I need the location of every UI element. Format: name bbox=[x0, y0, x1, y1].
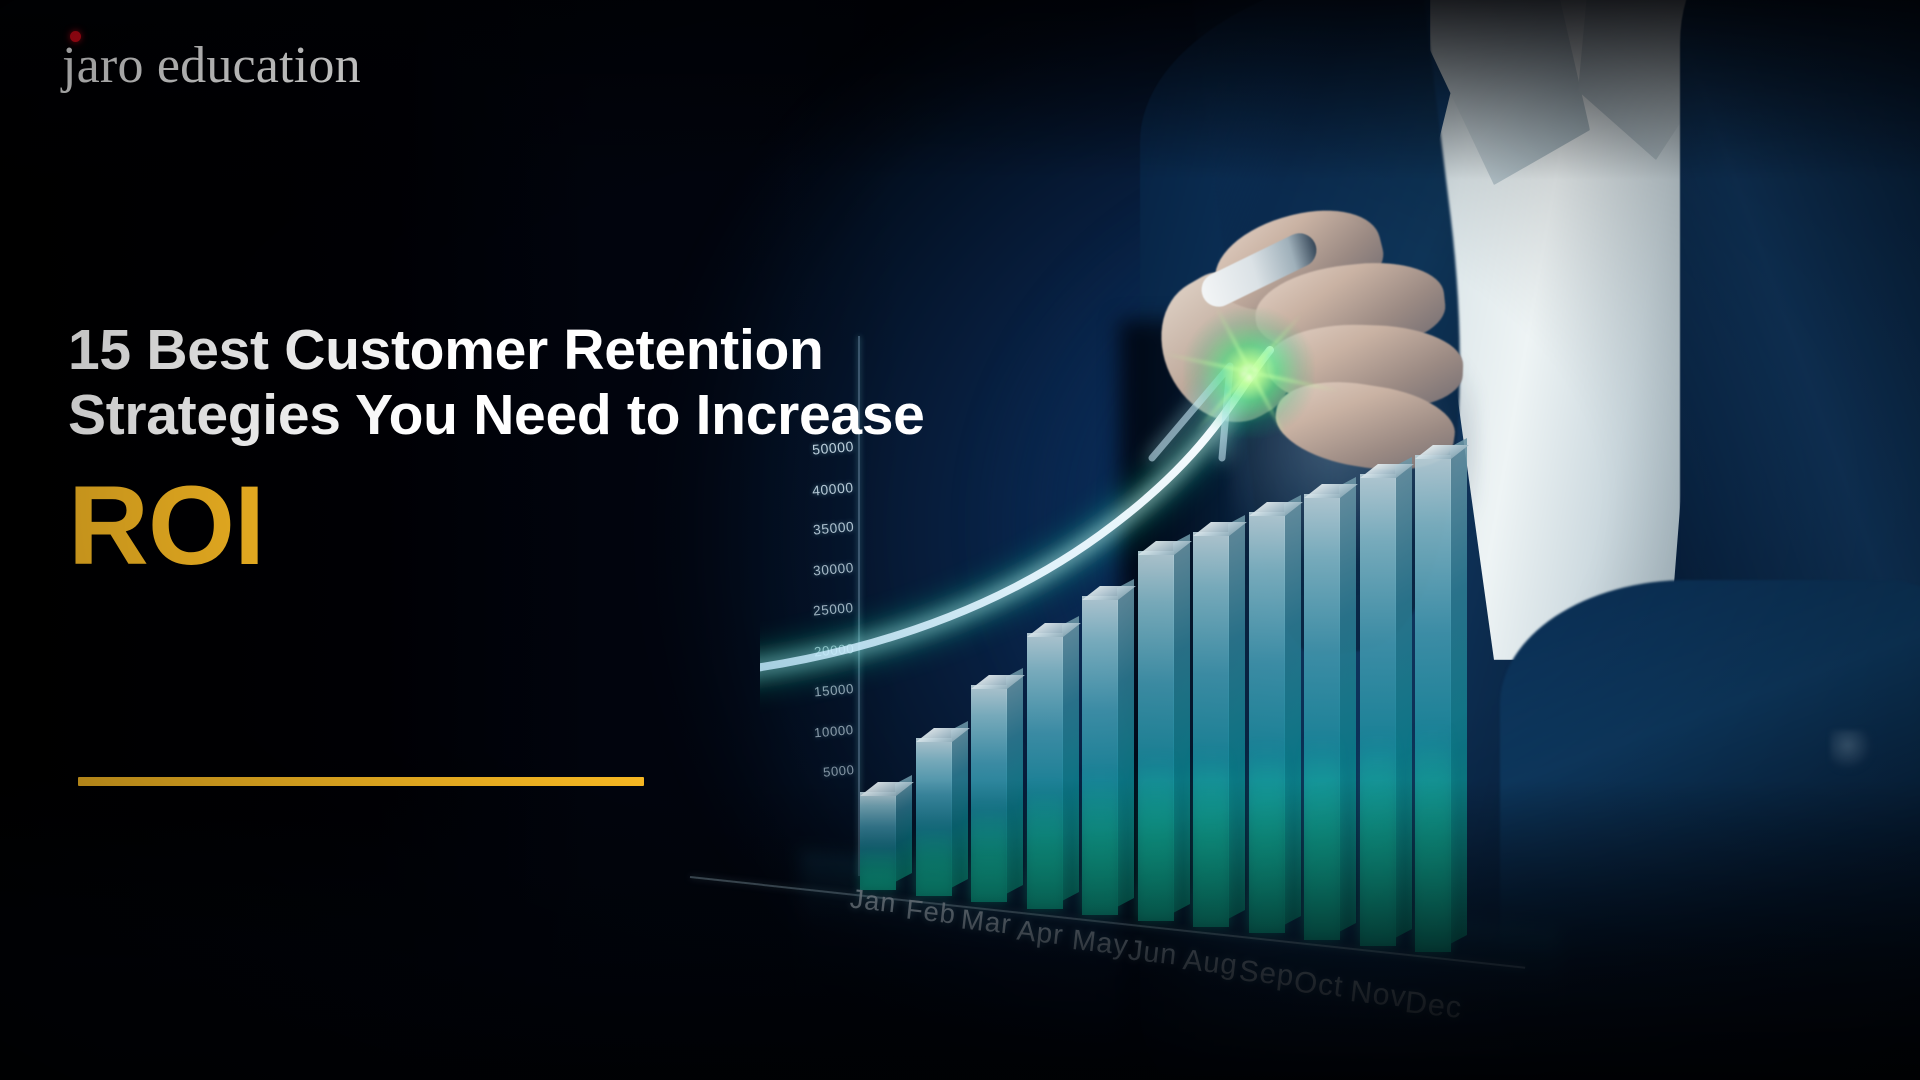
headline-line-1: 15 Best Customer Retention bbox=[68, 318, 1108, 383]
y-axis-tick: 5000 bbox=[822, 762, 855, 780]
suit-button bbox=[1830, 730, 1874, 774]
brand-name: jaro education bbox=[62, 40, 361, 92]
green-glow-point bbox=[1184, 308, 1314, 438]
headline-emphasis-roi: ROI bbox=[68, 470, 1108, 582]
y-axis-tick: 25000 bbox=[813, 600, 855, 618]
y-axis-tick: 20000 bbox=[813, 641, 854, 659]
y-axis-tick: 15000 bbox=[814, 681, 855, 699]
accent-underline-rule bbox=[78, 777, 644, 786]
poster-canvas: 5000040000350003000025000200001500010000… bbox=[0, 0, 1920, 1080]
y-axis-tick: 10000 bbox=[814, 722, 855, 740]
bottom-dark-gradient bbox=[0, 780, 1920, 1080]
headline-line-2: Strategies You Need to Increase bbox=[68, 383, 1108, 448]
brand-logo[interactable]: jaro education bbox=[62, 40, 361, 92]
red-dot-icon bbox=[70, 31, 81, 42]
headline-block: 15 Best Customer Retention Strategies Yo… bbox=[68, 318, 1108, 582]
